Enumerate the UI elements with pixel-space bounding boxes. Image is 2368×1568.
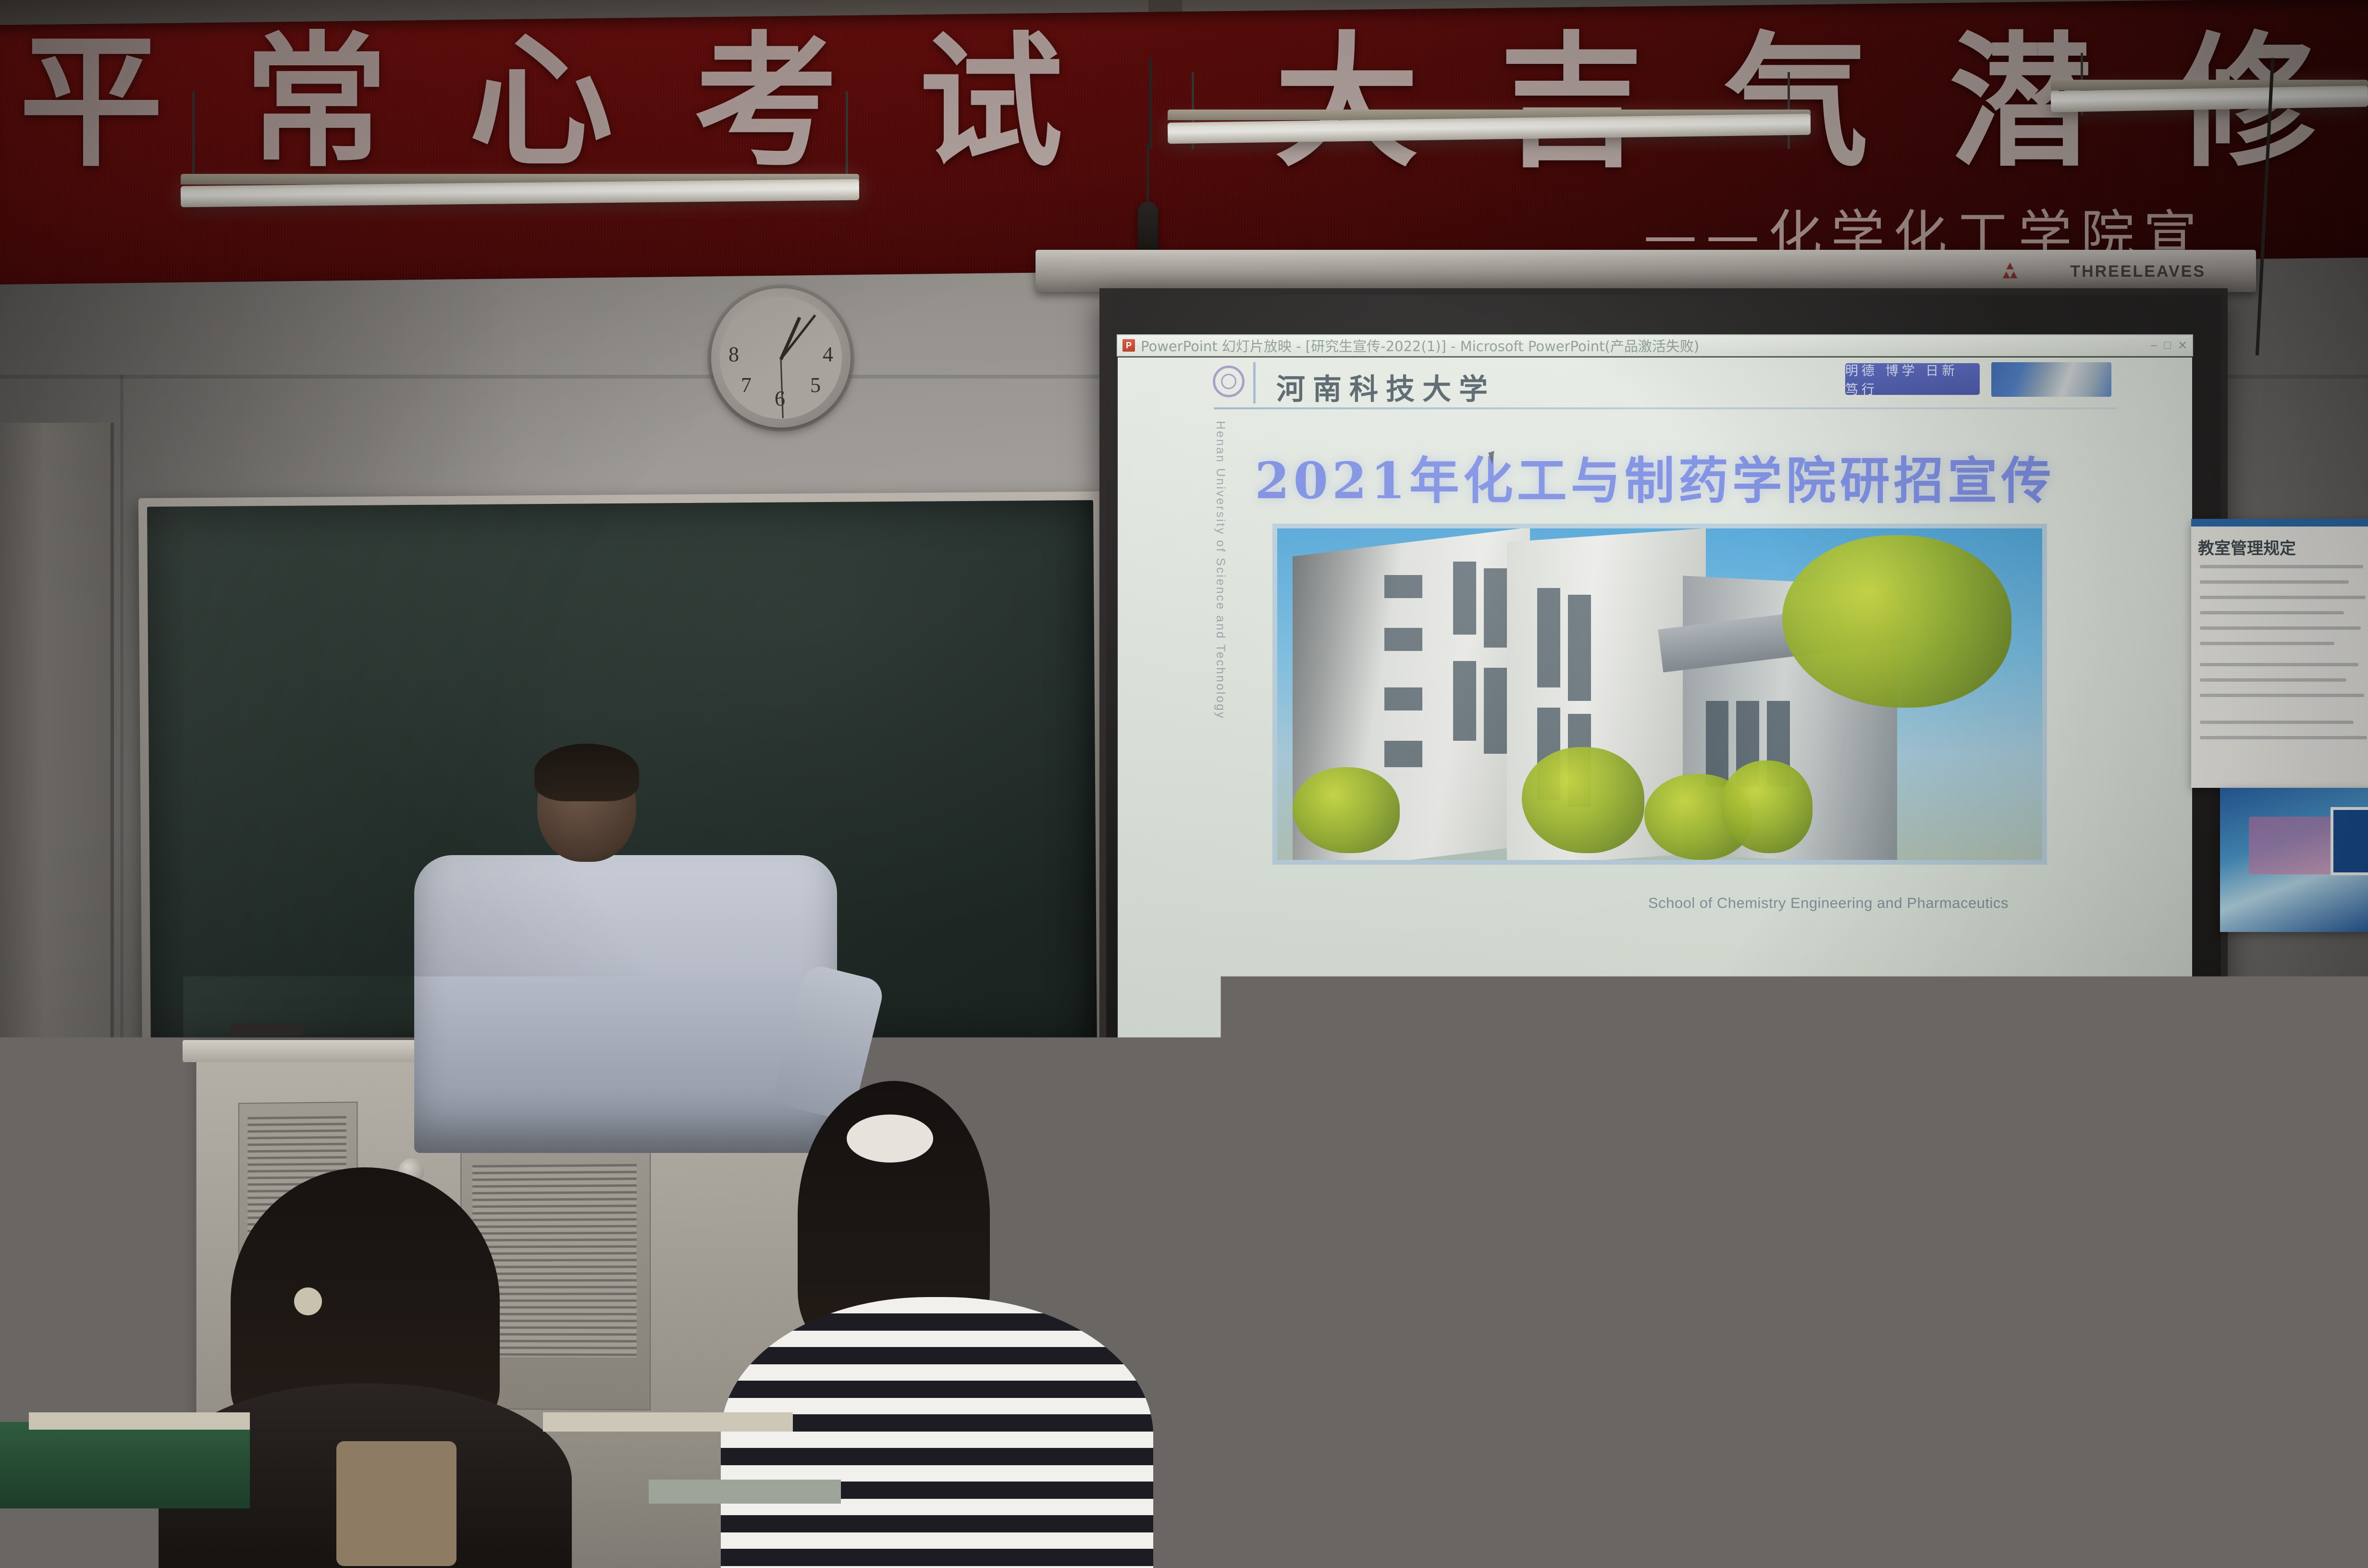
screen-surface: P PowerPoint 幻灯片放映 - [研究生宣传-2022(1)] - M… bbox=[1106, 295, 2221, 1145]
university-name: 河南科技大学 bbox=[1276, 366, 1495, 408]
clock-number-4: 4 bbox=[823, 342, 833, 367]
window-buttons[interactable]: – □ ✕ bbox=[2151, 339, 2187, 353]
status-separator bbox=[1269, 1060, 1269, 1073]
hair-clip bbox=[294, 1287, 322, 1315]
bench-rail bbox=[649, 1480, 841, 1504]
powerpoint-statusbar: 幻灯片 第 1 张,共 31 张 bbox=[1118, 1056, 2192, 1076]
shoulder-bag bbox=[336, 1441, 456, 1566]
slide-title: 2021年化工与制药学院研招宣传 bbox=[1118, 440, 2192, 513]
clock-number-8: 8 bbox=[728, 342, 739, 367]
clock-number-7: 7 bbox=[741, 373, 752, 397]
maximize-icon[interactable]: □ bbox=[2164, 339, 2171, 353]
screen-housing: THREELEAVES bbox=[1036, 250, 2256, 292]
university-motto-badge: 明德 博学 日新 笃行 bbox=[1845, 363, 1980, 395]
sorter-view-icon[interactable] bbox=[1939, 1061, 1952, 1072]
university-seal-icon bbox=[1213, 366, 1245, 397]
header-campus-thumbnail bbox=[1991, 362, 2111, 397]
poster-inset-image bbox=[2331, 807, 2368, 875]
start-button[interactable] bbox=[1117, 1077, 1208, 1113]
three-leaves-logo-icon bbox=[1999, 260, 2021, 282]
zoom-controls[interactable] bbox=[2095, 1059, 2185, 1074]
classroom-door bbox=[0, 423, 114, 1335]
motto-text: 明德 博学 日新 笃行 bbox=[1845, 360, 1980, 398]
poster-promotional bbox=[2220, 788, 2368, 932]
close-icon[interactable]: ✕ bbox=[2178, 339, 2187, 353]
header-rule bbox=[1214, 407, 2117, 409]
mic-stem bbox=[1147, 144, 1149, 207]
water-bottle bbox=[129, 1410, 175, 1525]
campus-building-photo bbox=[1277, 528, 2042, 860]
fit-slide-button[interactable] bbox=[2167, 1059, 2185, 1074]
zoom-in-button[interactable] bbox=[2143, 1059, 2161, 1074]
zoom-slider[interactable] bbox=[2119, 1059, 2137, 1074]
chair-back bbox=[1749, 1484, 1855, 1542]
slide-photo-frame bbox=[1272, 524, 2047, 865]
screen-brand-label: THREELEAVES bbox=[2070, 262, 2206, 281]
powerpoint-app-icon: P bbox=[1122, 339, 1135, 352]
striped-shirt bbox=[721, 1297, 1153, 1568]
presenter-torso bbox=[414, 855, 837, 1153]
bench-desktop bbox=[543, 1412, 793, 1432]
powerpoint-window-title: PowerPoint 幻灯片放映 - [研究生宣传-2022(1)] - Mic… bbox=[1141, 335, 1699, 355]
taskbar-item[interactable] bbox=[1660, 1083, 1823, 1106]
clock-number-5: 5 bbox=[810, 373, 821, 397]
poster-header-bar bbox=[2191, 519, 2368, 527]
slide-canvas[interactable]: 河南科技大学 Henan University of Science and T… bbox=[1118, 357, 2192, 1049]
poster-classroom-rules: 教室管理规定 bbox=[2191, 519, 2368, 788]
lamp-rod bbox=[192, 91, 195, 178]
mic-cable bbox=[1149, 58, 1152, 149]
slide-footer-english: School of Chemistry Engineering and Phar… bbox=[1648, 894, 2009, 912]
minimize-icon[interactable]: – bbox=[2151, 339, 2157, 353]
logo-divider bbox=[1253, 362, 1256, 404]
projection-screen: P PowerPoint 幻灯片放映 - [研究生宣传-2022(1)] - M… bbox=[1099, 288, 2228, 1152]
hair-scrunchie bbox=[847, 1115, 933, 1163]
lamp-rod bbox=[846, 91, 848, 178]
poster-title: 教室管理规定 bbox=[2198, 535, 2296, 559]
zoom-out-button[interactable] bbox=[2095, 1059, 2113, 1074]
powerpoint-titlebar[interactable]: P PowerPoint 幻灯片放映 - [研究生宣传-2022(1)] - M… bbox=[1117, 334, 2193, 356]
banner-main-text: 平常心考试 大吉气潜修 bbox=[19, 31, 2340, 175]
wall-clock: 4 5 6 7 8 bbox=[711, 288, 851, 428]
podium-device bbox=[231, 1023, 303, 1036]
presenter-hair bbox=[534, 744, 639, 801]
clock-number-6: 6 bbox=[775, 386, 785, 411]
bench-desktop bbox=[1643, 1393, 2182, 1414]
slide-counter: 幻灯片 第 1 张,共 31 张 bbox=[1125, 1058, 1255, 1075]
view-buttons[interactable] bbox=[1907, 1061, 1985, 1072]
slideshow-icon[interactable] bbox=[1972, 1061, 1985, 1072]
poster-graphic bbox=[2249, 817, 2335, 874]
system-tray[interactable] bbox=[2035, 1077, 2193, 1113]
normal-view-icon[interactable] bbox=[1907, 1061, 1919, 1072]
windows-taskbar[interactable] bbox=[1117, 1077, 2193, 1113]
bench-left bbox=[0, 1422, 250, 1508]
classroom-scene: 平常心考试 大吉气潜修 ——化学化工学院宣 4 5 6 7 8 bbox=[0, 0, 2368, 1568]
